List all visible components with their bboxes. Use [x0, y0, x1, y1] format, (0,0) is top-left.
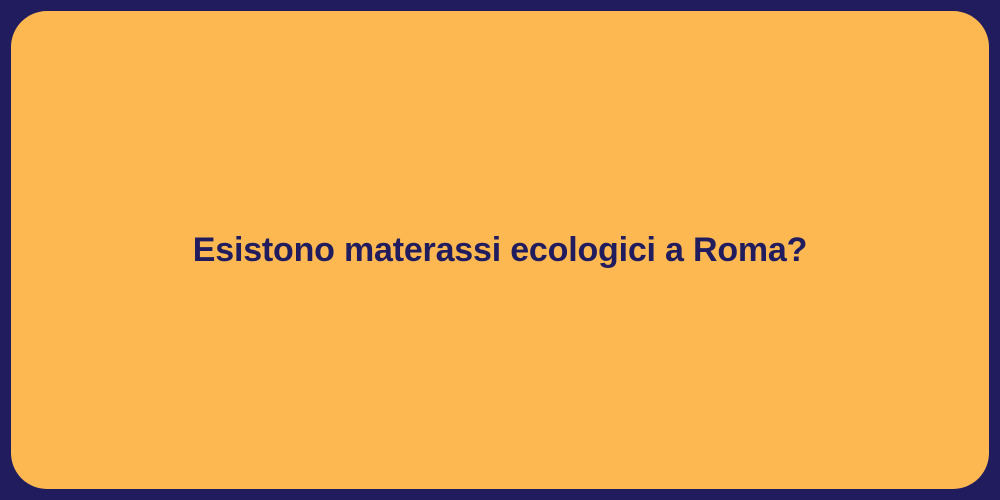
outer-navy-frame: Esistono materassi ecologici a Roma? [0, 0, 1000, 500]
question-card: Esistono materassi ecologici a Roma? [11, 11, 989, 489]
question-headline: Esistono materassi ecologici a Roma? [193, 229, 807, 272]
